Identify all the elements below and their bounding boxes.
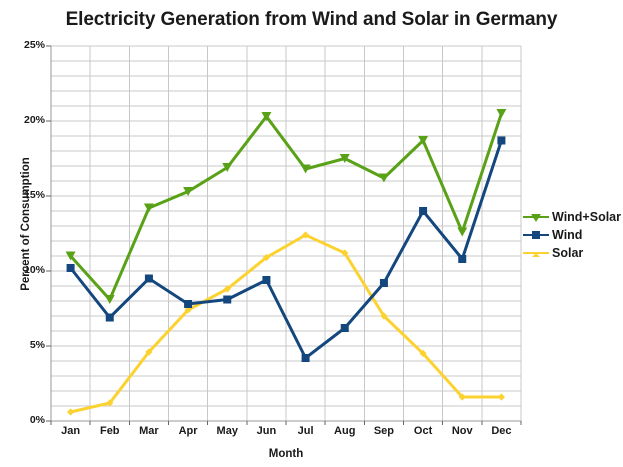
data-point xyxy=(145,275,153,283)
legend-marker-icon xyxy=(532,249,540,257)
chart-container: Electricity Generation from Wind and Sol… xyxy=(0,0,623,467)
data-point xyxy=(496,109,506,118)
legend-label: Solar xyxy=(552,246,583,260)
legend-marker-icon xyxy=(531,214,541,222)
data-point xyxy=(498,393,505,400)
legend-item-wind-solar[interactable]: Wind+Solar xyxy=(523,208,621,226)
axis-lines xyxy=(46,46,521,425)
legend-label: Wind xyxy=(552,228,582,242)
y-tick-label: 5% xyxy=(3,339,45,351)
legend-label: Wind+Solar xyxy=(552,210,621,224)
data-point xyxy=(458,255,466,263)
data-point xyxy=(105,295,115,304)
data-point xyxy=(223,296,231,304)
data-point xyxy=(67,264,75,272)
gridlines xyxy=(51,46,521,421)
data-point xyxy=(302,354,310,362)
data-point xyxy=(419,207,427,215)
legend-swatch-icon xyxy=(523,210,549,224)
legend-item-solar[interactable]: Solar xyxy=(523,244,621,262)
legend-swatch-icon xyxy=(523,246,549,260)
legend-item-wind[interactable]: Wind xyxy=(523,226,621,244)
legend-swatch-icon xyxy=(523,228,549,242)
legend-marker-icon xyxy=(532,231,540,239)
data-point xyxy=(106,314,114,322)
data-point xyxy=(67,408,74,415)
data-point xyxy=(380,279,388,287)
data-point xyxy=(184,300,192,308)
x-tick-label-dec: Dec xyxy=(478,425,524,437)
data-point xyxy=(262,276,270,284)
y-tick-label: 20% xyxy=(3,114,45,126)
chart-legend: Wind+SolarWindSolar xyxy=(523,208,621,262)
data-point xyxy=(457,228,467,237)
y-tick-label: 10% xyxy=(3,264,45,276)
y-tick-label: 0% xyxy=(3,414,45,426)
y-tick-label: 15% xyxy=(3,189,45,201)
data-point xyxy=(341,324,349,332)
y-tick-label: 25% xyxy=(3,39,45,51)
data-point xyxy=(497,137,505,145)
